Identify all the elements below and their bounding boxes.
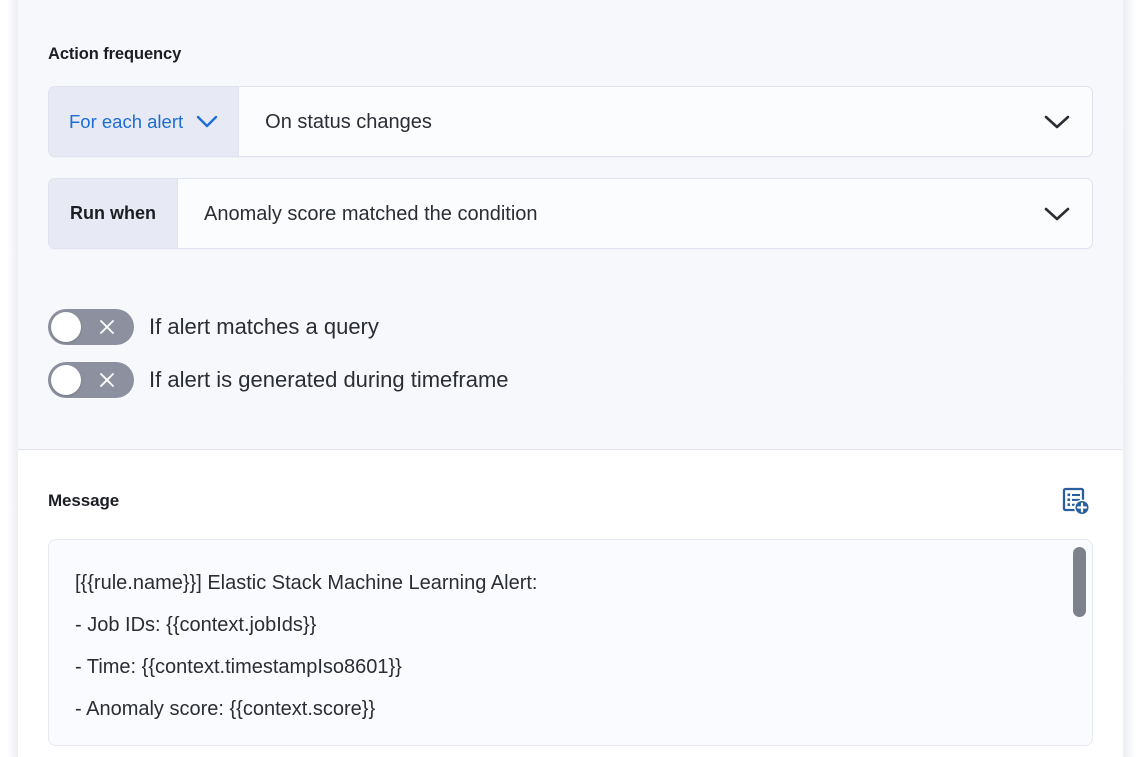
chevron-down-icon xyxy=(1043,114,1071,130)
message-textarea-wrap[interactable]: [{{rule.name}}] Elastic Stack Machine Le… xyxy=(48,539,1093,746)
run-when-value: Anomaly score matched the condition xyxy=(204,204,538,224)
notify-when-select[interactable]: On status changes xyxy=(239,87,1092,156)
for-each-alert-dropdown[interactable]: For each alert xyxy=(49,87,239,156)
right-gutter xyxy=(1123,0,1145,757)
cross-icon xyxy=(97,317,117,337)
notify-when-value: On status changes xyxy=(265,112,432,132)
for-each-alert-label: For each alert xyxy=(69,111,183,133)
alert-matches-query-switch[interactable] xyxy=(48,309,134,345)
action-frequency-title: Action frequency xyxy=(48,0,1093,64)
run-when-select[interactable]: Anomaly score matched the condition xyxy=(178,179,1092,248)
run-when-label-group: Run when xyxy=(49,179,178,248)
message-section: Message [{{rule.nam xyxy=(17,450,1124,757)
switch-knob xyxy=(51,365,81,395)
message-scrollbar[interactable] xyxy=(1072,544,1086,743)
left-gutter xyxy=(0,0,18,757)
run-when-label: Run when xyxy=(70,203,156,224)
message-textarea[interactable]: [{{rule.name}}] Elastic Stack Machine Le… xyxy=(49,540,1092,730)
cross-icon xyxy=(97,370,117,390)
action-settings-panel: Action frequency For each alert On statu… xyxy=(0,0,1145,757)
chevron-down-icon xyxy=(196,115,218,128)
message-header: Message xyxy=(48,450,1093,519)
conditional-toggles: If alert matches a query If alert is gen… xyxy=(48,249,1093,398)
alert-query-toggle-row: If alert matches a query xyxy=(48,309,1093,345)
message-label: Message xyxy=(48,491,119,511)
action-frequency-select-row[interactable]: For each alert On status changes xyxy=(48,86,1093,157)
alert-timeframe-label: If alert is generated during timeframe xyxy=(149,367,509,393)
switch-knob xyxy=(51,312,81,342)
run-when-select-row[interactable]: Run when Anomaly score matched the condi… xyxy=(48,178,1093,249)
action-frequency-section: Action frequency For each alert On statu… xyxy=(17,0,1124,450)
chevron-down-icon xyxy=(1043,206,1071,222)
message-scrollbar-thumb[interactable] xyxy=(1073,547,1086,617)
add-variable-icon[interactable] xyxy=(1057,483,1093,519)
alert-matches-query-label: If alert matches a query xyxy=(149,314,379,340)
panel-content: Action frequency For each alert On statu… xyxy=(17,0,1124,757)
alert-timeframe-toggle-row: If alert is generated during timeframe xyxy=(48,362,1093,398)
alert-timeframe-switch[interactable] xyxy=(48,362,134,398)
